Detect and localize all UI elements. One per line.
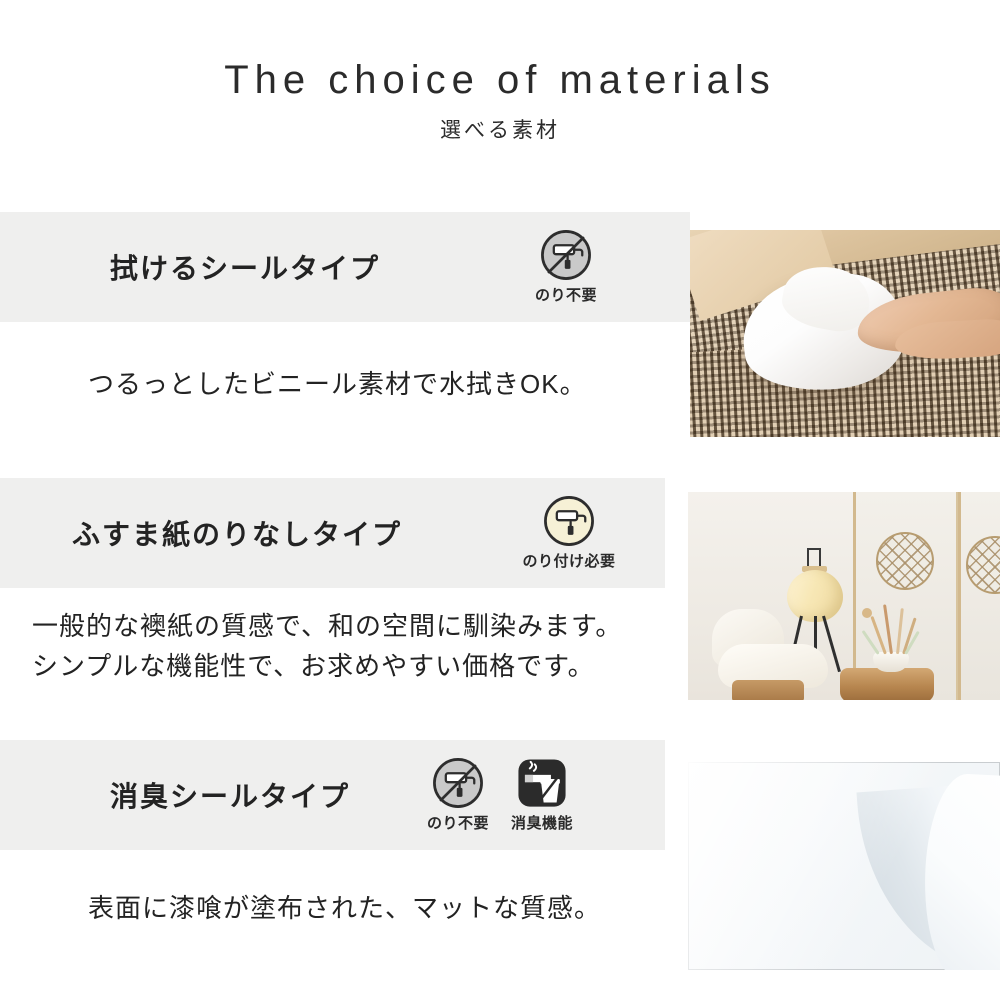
section-2-badges: のり付け必要 xyxy=(510,495,628,571)
photo3-paper-sheen xyxy=(688,762,1000,970)
section-3-header-row: 消臭シールタイプ のり不要 xyxy=(110,740,655,850)
badge-deodorizing-label: 消臭機能 xyxy=(511,812,573,833)
materials-infographic: The choice of materials 選べる素材 拭けるシールタイプ … xyxy=(0,0,1000,1000)
badge-no-glue-2: のり不要 xyxy=(422,757,494,833)
section-1-badges: のり不要 xyxy=(530,229,602,305)
badge-glue-required-label: のり付け必要 xyxy=(523,550,616,571)
section-2-title: ふすま紙のりなしタイプ xyxy=(72,513,402,553)
section-1-photo xyxy=(690,230,1000,437)
no-glue-roller-icon xyxy=(540,229,592,281)
photo2-lantern-shade xyxy=(787,570,843,622)
page-header: The choice of materials 選べる素材 xyxy=(0,0,1000,200)
section-3-photo xyxy=(688,762,1000,970)
photo2-fusuma-panel-2 xyxy=(958,492,1000,700)
section-2-photo xyxy=(688,492,1000,700)
section-3-badges: のり不要 消臭機能 xyxy=(422,757,578,833)
photo2-lattice-circle-1 xyxy=(876,532,934,590)
section-2-description-line-2: シンプルな機能性で、お求めやすい価格です。 xyxy=(32,646,595,686)
section-1-description: つるっとしたビニール素材で水拭きOK。 xyxy=(88,364,587,404)
photo2-plant-pot xyxy=(873,652,909,672)
section-2-header-row: ふすま紙のりなしタイプ のり付け必要 xyxy=(72,478,657,588)
no-glue-roller-icon xyxy=(432,757,484,809)
section-1-header-row: 拭けるシールタイプ のり不要 xyxy=(110,212,670,322)
page-title: The choice of materials xyxy=(0,58,1000,103)
material-section-1: 拭けるシールタイプ のり不要 つるっとしたビニール素材で水拭きOK。 xyxy=(0,212,1000,478)
material-section-2: ふすま紙のりなしタイプ のり付け必要 一般的な襖紙の質感で、和の空間に馴染みます… xyxy=(0,478,1000,740)
section-3-description: 表面に漆喰が塗布された、マットな質感。 xyxy=(88,888,601,928)
photo2-side-table xyxy=(840,668,934,700)
badge-no-glue-label: のり不要 xyxy=(535,284,597,305)
section-3-title: 消臭シールタイプ xyxy=(110,775,350,815)
deodorizing-function-icon xyxy=(516,757,568,809)
section-2-description-line-1: 一般的な襖紙の質感で、和の空間に馴染みます。 xyxy=(32,606,622,646)
badge-no-glue: のり不要 xyxy=(530,229,602,305)
glue-required-roller-icon xyxy=(543,495,595,547)
photo2-lamp-handle xyxy=(807,548,821,568)
section-1-title: 拭けるシールタイプ xyxy=(110,247,380,287)
badge-no-glue-label-2: のり不要 xyxy=(427,812,489,833)
page-subtitle: 選べる素材 xyxy=(0,114,1000,144)
photo2-chair-base xyxy=(732,680,804,700)
badge-glue-required: のり付け必要 xyxy=(510,495,628,571)
material-section-3: 消臭シールタイプ のり不要 xyxy=(0,740,1000,1000)
badge-deodorizing: 消臭機能 xyxy=(506,757,578,833)
